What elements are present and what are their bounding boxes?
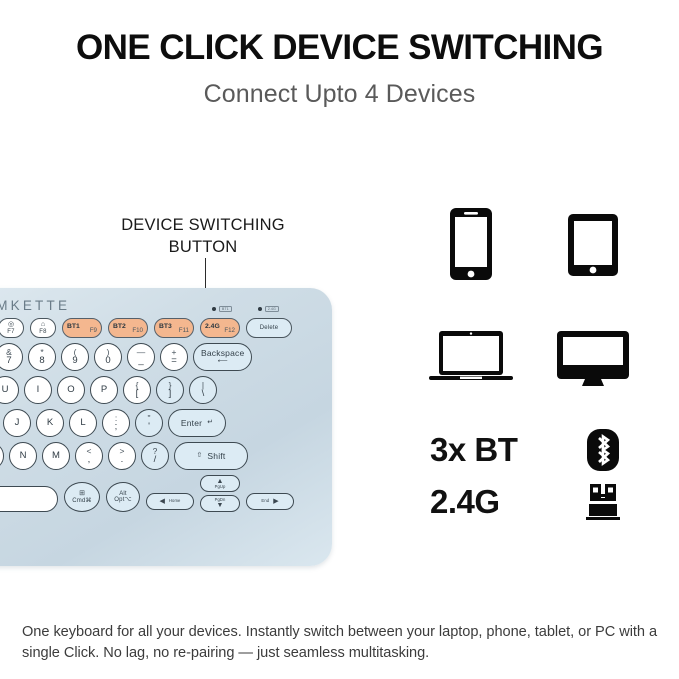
keyboard-row-home: H J K L : ; " ' Enter ↵	[0, 409, 332, 437]
key-bt2-device-switch[interactable]: BT2 F10	[108, 318, 148, 338]
key-m[interactable]: M	[42, 442, 70, 470]
feature-24g-wireless: 2.4G	[430, 476, 645, 528]
key-p[interactable]: P	[90, 376, 118, 404]
device-icon-desktop-monitor	[555, 329, 631, 387]
key-alt-option[interactable]: Alt Opt⌥	[106, 482, 140, 512]
led-label: BT1	[219, 306, 232, 312]
device-icon-laptop	[428, 328, 514, 386]
key-k[interactable]: K	[36, 409, 64, 437]
key-slash[interactable]: ? /	[141, 442, 169, 470]
shift-arrow-icon: ⇧	[197, 452, 203, 459]
mute-icon: ◎	[8, 321, 14, 328]
key-minus[interactable]: — _	[127, 343, 155, 371]
key-i[interactable]: I	[24, 376, 52, 404]
keyboard-row-qwerty: Y U I O P { [ } ] | \	[0, 376, 332, 404]
keyboard-key-rows: ☀ F6 ◎ F7 ⌂ F8 BT1 F9 BT2 F10	[0, 318, 332, 517]
key-f7[interactable]: ◎ F7	[0, 318, 24, 338]
device-icon-smartphone	[448, 206, 494, 282]
key-f8[interactable]: ⌂ F8	[30, 318, 56, 338]
key-delete[interactable]: Delete	[246, 318, 292, 338]
annotation-line-1: DEVICE SWITCHING	[88, 214, 318, 236]
key-cmd[interactable]: ⊞ Cmd⌘	[64, 482, 100, 512]
device-icon-tablet	[566, 212, 620, 278]
usb-receiver-icon	[580, 481, 626, 523]
key-l[interactable]: L	[69, 409, 97, 437]
feature-24g-label: 2.4G	[430, 483, 580, 521]
key-n[interactable]: N	[9, 442, 37, 470]
page-title: ONE CLICK DEVICE SWITCHING	[0, 28, 679, 68]
enter-arrow-icon: ↵	[207, 419, 213, 426]
keyboard-product-image: AMKETTE BT1 2.4G ☀ F6 ◎ F7 ⌂ F8	[0, 288, 332, 566]
bluetooth-icon	[580, 428, 626, 472]
key-enter[interactable]: Enter ↵	[168, 409, 226, 437]
arrow-down-icon: ▼	[217, 502, 224, 509]
key-0[interactable]: ) 0	[94, 343, 122, 371]
backspace-arrow-icon: ⟵	[218, 358, 228, 365]
led-indicator-bt1: BT1	[212, 306, 232, 312]
key-7[interactable]: & 7	[0, 343, 23, 371]
annotation-line-2: BUTTON	[88, 236, 318, 258]
feature-bluetooth-label: 3x BT	[430, 431, 580, 469]
keyboard-row-function: ☀ F6 ◎ F7 ⌂ F8 BT1 F9 BT2 F10	[0, 318, 332, 338]
key-arrow-down-pgdn[interactable]: PgDn ▼	[200, 495, 240, 512]
home-icon: ⌂	[41, 321, 45, 328]
page-subtitle: Connect Upto 4 Devices	[0, 80, 679, 109]
key-8[interactable]: * 8	[28, 343, 56, 371]
key-equals[interactable]: + =	[160, 343, 188, 371]
footer-caption: One keyboard for all your devices. Insta…	[22, 622, 662, 664]
key-quote[interactable]: " '	[135, 409, 163, 437]
supported-devices-icons	[424, 198, 644, 388]
key-j[interactable]: J	[3, 409, 31, 437]
key-semicolon[interactable]: : ;	[102, 409, 130, 437]
key-o[interactable]: O	[57, 376, 85, 404]
led-dot-icon	[212, 307, 216, 311]
key-u[interactable]: U	[0, 376, 19, 404]
key-b[interactable]: B	[0, 442, 4, 470]
key-arrow-up-pgup[interactable]: ▲ PgUp	[200, 475, 240, 492]
keyboard-brand-logo: AMKETTE	[0, 298, 70, 313]
led-indicator-24g: 2.4G	[258, 306, 279, 312]
keyboard-led-indicators: BT1 2.4G	[212, 306, 279, 312]
key-bracket-right[interactable]: } ]	[156, 376, 184, 404]
arrow-left-icon: ◀	[160, 498, 165, 505]
key-9[interactable]: ( 9	[61, 343, 89, 371]
key-bt1-device-switch[interactable]: BT1 F9	[62, 318, 102, 338]
key-bt3-device-switch[interactable]: BT3 F11	[154, 318, 194, 338]
key-bracket-left[interactable]: { [	[123, 376, 151, 404]
key-spacebar[interactable]	[0, 486, 58, 512]
led-label: 2.4G	[265, 306, 279, 312]
key-comma[interactable]: < ,	[75, 442, 103, 470]
keyboard-row-shift: B N M < , > . ? / ⇧ Shift	[0, 442, 332, 470]
key-period[interactable]: > .	[108, 442, 136, 470]
key-24g-device-switch[interactable]: 2.4G F12	[200, 318, 240, 338]
feature-bluetooth: 3x BT	[430, 424, 645, 476]
led-dot-icon	[258, 307, 262, 311]
keyboard-row-numbers: ^ 6 & 7 * 8 ( 9 ) 0 — _	[0, 343, 332, 371]
key-backspace[interactable]: Backspace ⟵	[193, 343, 252, 371]
key-arrow-left-home[interactable]: ◀ Home	[146, 493, 194, 510]
key-shift[interactable]: ⇧ Shift	[174, 442, 248, 470]
windows-icon: ⊞	[79, 490, 85, 497]
key-backslash[interactable]: | \	[189, 376, 217, 404]
key-arrow-right-end[interactable]: End ▶	[246, 493, 294, 510]
keyboard-row-bottom: ⊞ Cmd⌘ Alt Opt⌥ ◀ Home ▲ PgUp PgDn ▼	[0, 475, 332, 512]
arrow-key-cluster: ▲ PgUp PgDn ▼	[200, 475, 240, 512]
connectivity-features: 3x BT 2.4G	[430, 424, 645, 528]
annotation-label: DEVICE SWITCHING BUTTON	[88, 214, 318, 259]
arrow-right-icon: ▶	[273, 498, 278, 505]
